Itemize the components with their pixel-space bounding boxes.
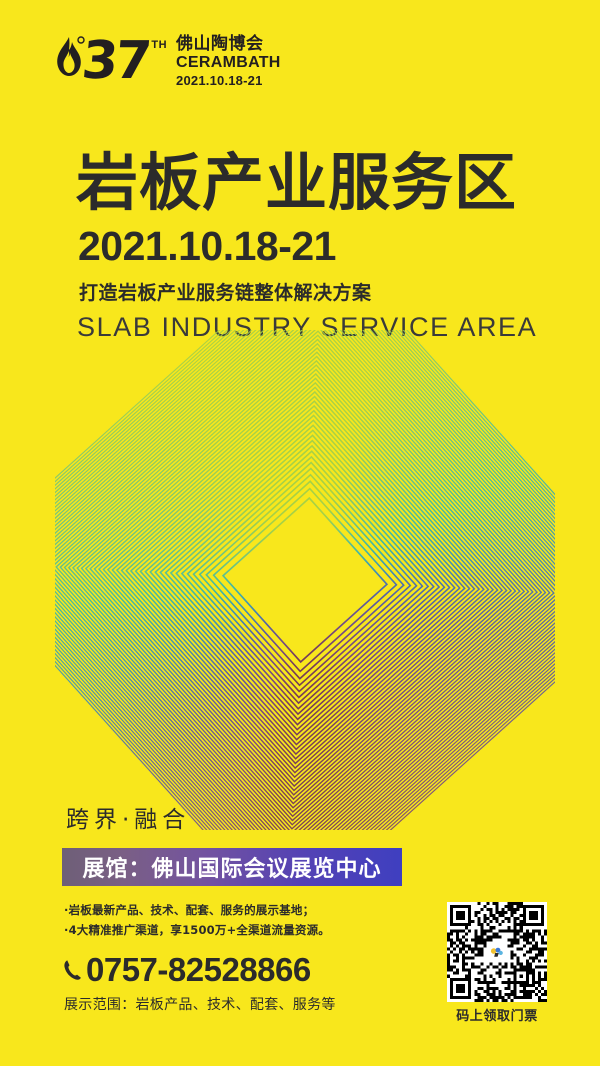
brand-date: 2021.10.18-21 [176, 73, 281, 89]
poster-root: 37 TH 佛山陶博会 CERAMBATH 2021.10.18-21 岩板产业… [0, 0, 600, 1066]
qr-code[interactable] [447, 902, 547, 1002]
brand-name-en: CERAMBATH [176, 54, 281, 72]
venue-badge: 展馆：佛山国际会议展览中心 [62, 848, 402, 886]
subtitle-en: SLAB INDUSTRY SERVICE AREA [77, 310, 546, 344]
phone-row[interactable]: 0757-82528866 [62, 952, 311, 988]
venue-text: 展馆：佛山国际会议展览中心 [82, 851, 381, 883]
exhibit-scope: 展示范围：岩板产品、技术、配套、服务等 [64, 995, 336, 1015]
nested-squares-graphic [55, 330, 555, 830]
phone-number: 0757-82528866 [86, 952, 311, 988]
tagline: 跨界·融合 [66, 806, 190, 834]
brand-text-block: 佛山陶博会 CERAMBATH 2021.10.18-21 [176, 34, 281, 89]
page-title: 岩板产业服务区 [76, 148, 546, 218]
bullet-item: ·岩板最新产品、技术、配套、服务的展示基地； [64, 900, 414, 920]
edition-number: 37 [80, 35, 151, 87]
event-date: 2021.10.18-21 [78, 222, 546, 270]
title-block: 岩板产业服务区 2021.10.18-21 打造岩板产业服务链整体解决方案 SL… [76, 148, 546, 344]
brand-header: 37 TH 佛山陶博会 CERAMBATH 2021.10.18-21 [52, 33, 281, 89]
subtitle-cn: 打造岩板产业服务链整体解决方案 [79, 280, 546, 306]
phone-icon [62, 958, 82, 982]
qr-center-logo [488, 943, 507, 962]
bullet-list: ·岩板最新产品、技术、配套、服务的展示基地； ·4大精准推广渠道，享1500万+… [64, 900, 414, 940]
brand-name-cn: 佛山陶博会 [176, 34, 281, 54]
qr-block: 码上领取门票 [447, 902, 547, 1025]
edition-suffix: TH [151, 39, 167, 51]
bullet-item: ·4大精准推广渠道，享1500万+全渠道流量资源。 [64, 920, 414, 940]
qr-caption: 码上领取门票 [447, 1009, 547, 1025]
